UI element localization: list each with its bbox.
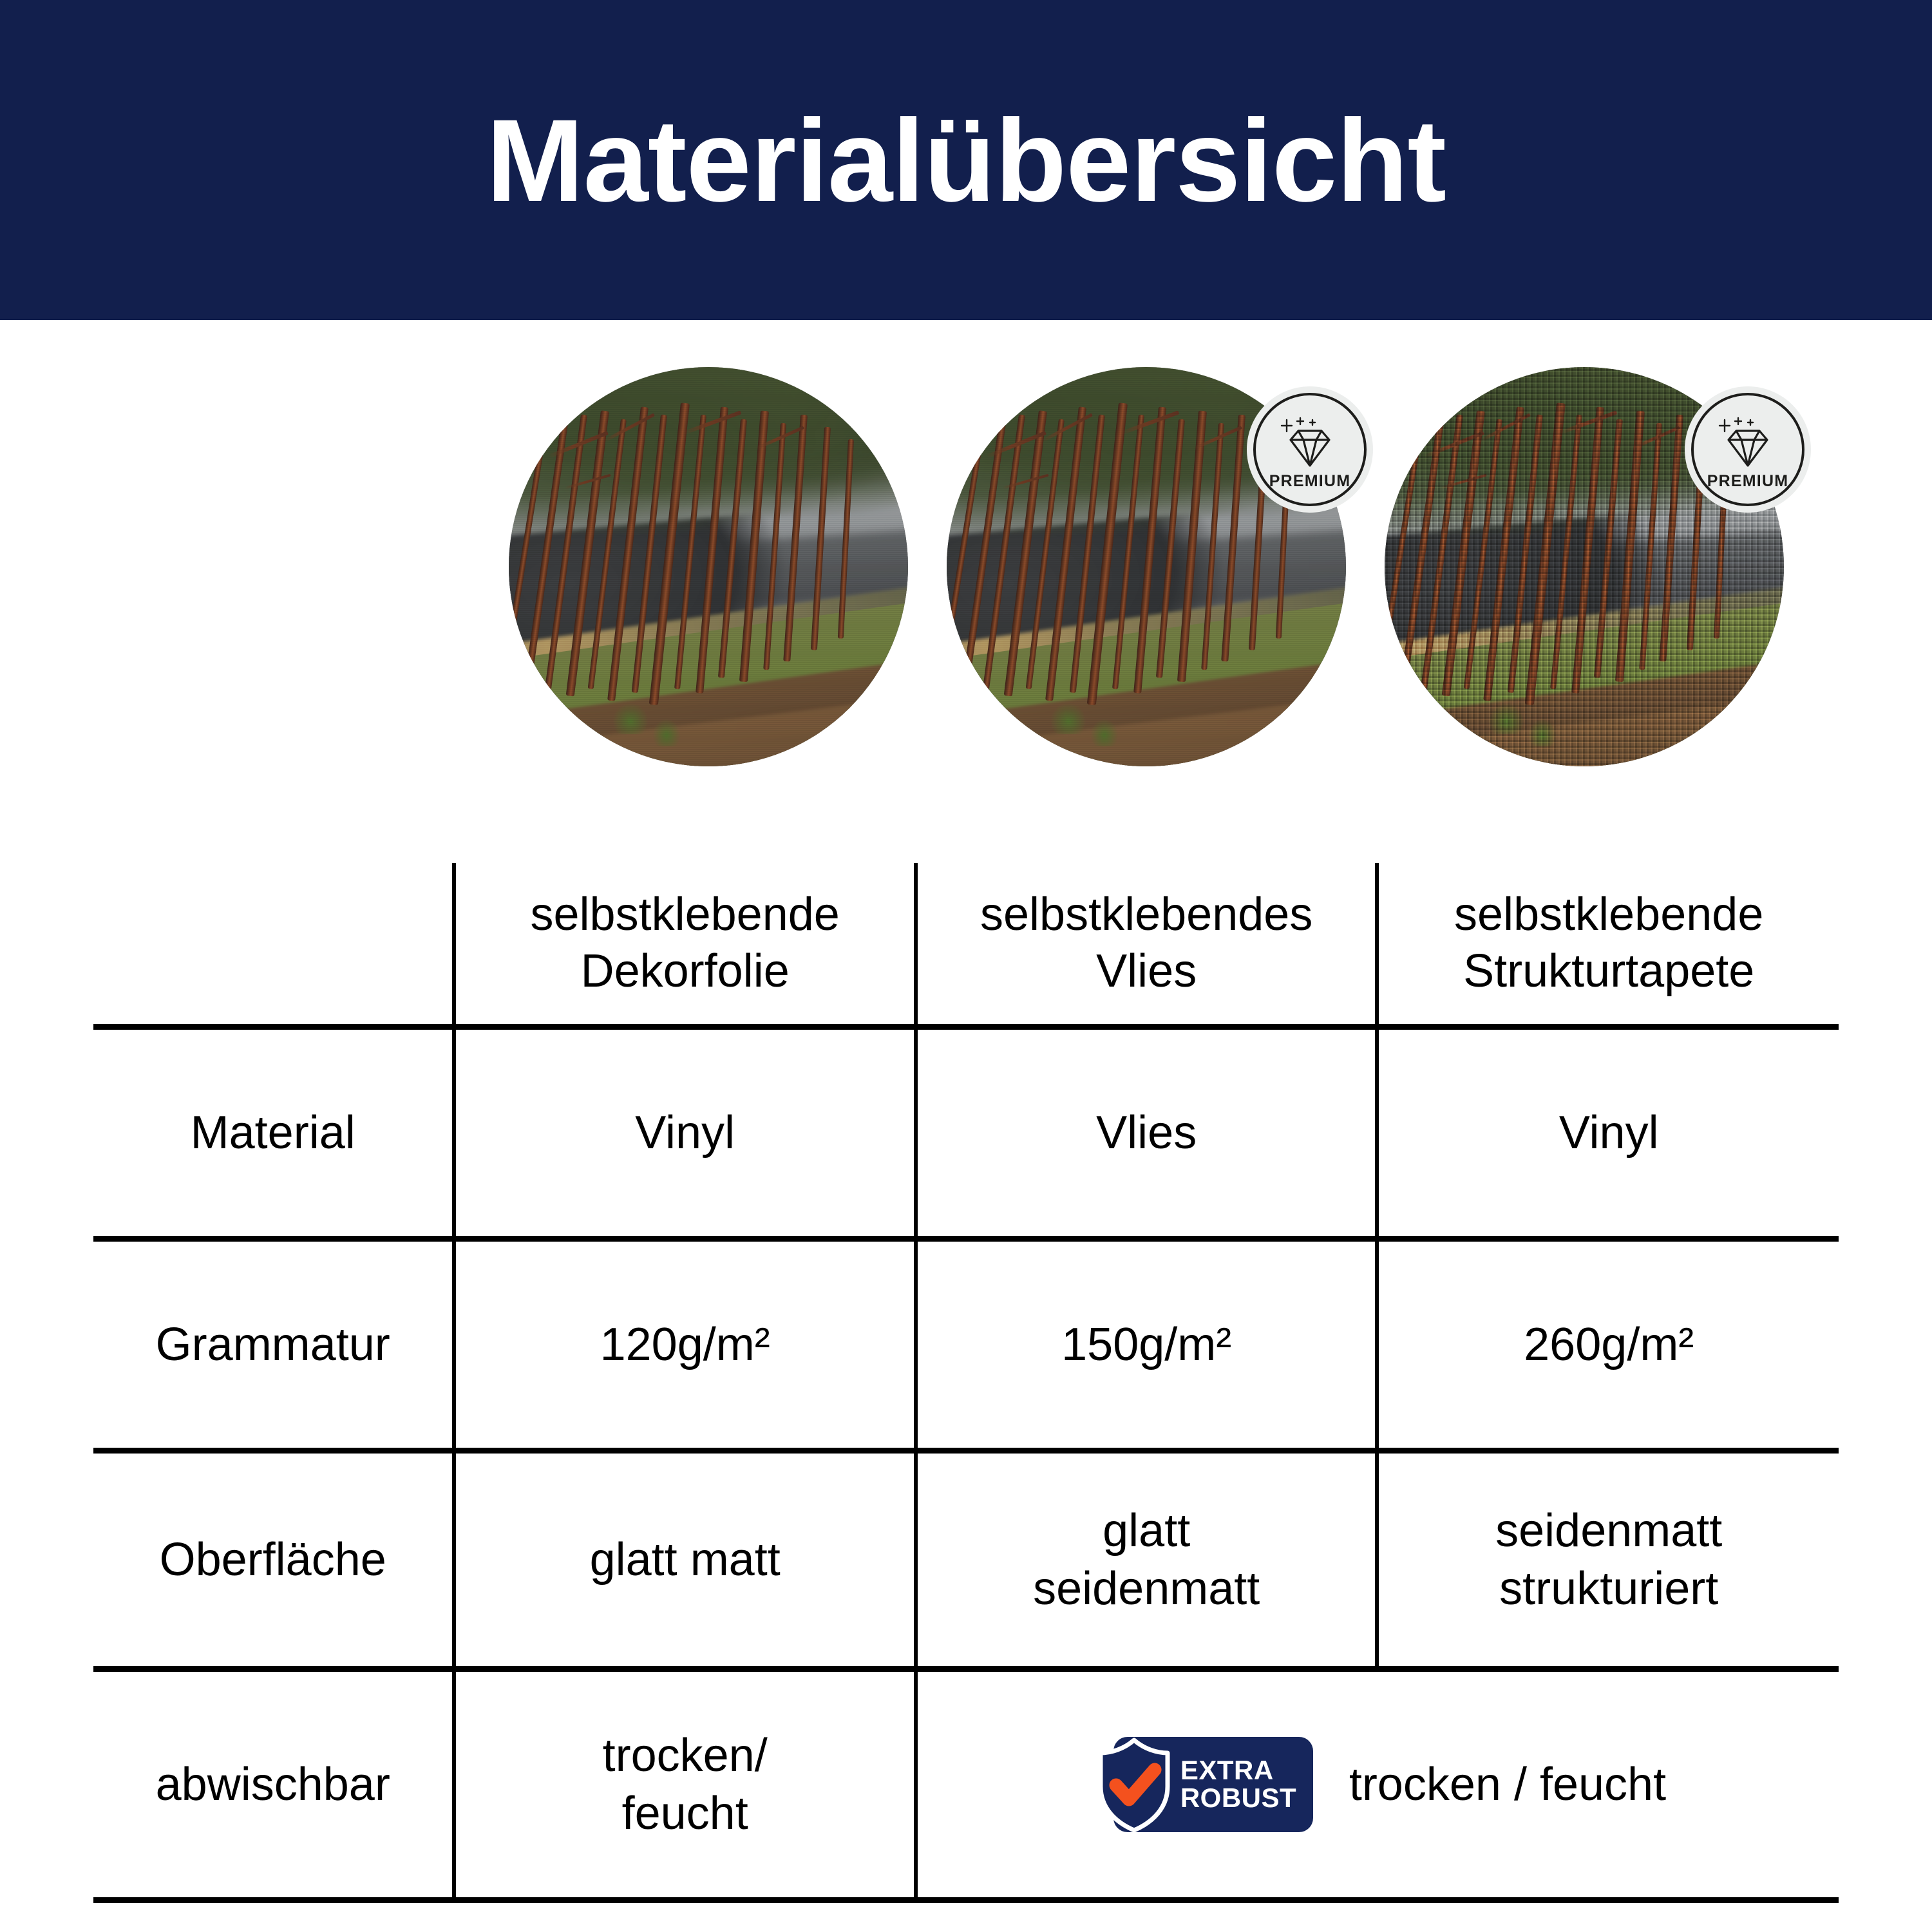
header-line-1: selbstklebende <box>530 889 839 940</box>
cell-oberflaeche-dekorfolie: glatt matt <box>454 1451 916 1669</box>
header-cell-vlies: selbstklebendes Vlies <box>916 863 1378 1027</box>
robust-line-1: EXTRA <box>1180 1757 1296 1785</box>
cell-abwischbar-vlies-strukturtapete: EXTRA ROBUST trocken / feucht <box>916 1669 1839 1900</box>
value-line-2: strukturiert <box>1499 1563 1718 1615</box>
premium-badge-label: PREMIUM <box>1707 472 1788 491</box>
cell-material-dekorfolie: Vinyl <box>454 1027 916 1239</box>
cell-material-vlies: Vlies <box>916 1027 1378 1239</box>
diamond-icon <box>1717 414 1779 469</box>
row-label-oberflaeche: Oberfläche <box>93 1451 454 1669</box>
header-line-2: Vlies <box>1096 945 1197 997</box>
premium-badge-label: PREMIUM <box>1269 472 1350 491</box>
header-cell-empty <box>93 863 454 1027</box>
value-line-1: glatt <box>1103 1505 1190 1557</box>
header-line-1: selbstklebendes <box>980 889 1312 940</box>
row-label-material: Material <box>93 1027 454 1239</box>
diamond-icon <box>1279 414 1341 469</box>
cell-grammatur-strukturtapete: 260g/m² <box>1377 1239 1839 1451</box>
cell-grammatur-dekorfolie: 120g/m² <box>454 1239 916 1451</box>
cell-oberflaeche-vlies: glatt seidenmatt <box>916 1451 1378 1669</box>
header-banner: Materialübersicht <box>0 0 1932 320</box>
header-line-2: Dekorfolie <box>581 945 790 997</box>
table-row-grammatur: Grammatur 120g/m² 150g/m² 260g/m² <box>93 1239 1839 1451</box>
row-label-abwischbar: abwischbar <box>93 1669 454 1900</box>
cell-oberflaeche-strukturtapete: seidenmatt strukturiert <box>1377 1451 1839 1669</box>
value-abwischbar-merged: trocken / feucht <box>1349 1756 1666 1814</box>
table-row-oberflaeche: Oberfläche glatt matt glatt seidenmatt s… <box>93 1451 1839 1669</box>
robust-line-2: ROBUST <box>1180 1785 1296 1812</box>
header-line-2: Strukturtapete <box>1463 945 1754 997</box>
header-cell-dekorfolie: selbstklebende Dekorfolie <box>454 863 916 1027</box>
row-label-grammatur: Grammatur <box>93 1239 454 1451</box>
table-row-material: Material Vinyl Vlies Vinyl <box>93 1027 1839 1239</box>
cell-material-strukturtapete: Vinyl <box>1377 1027 1839 1239</box>
value-line-1: seidenmatt <box>1495 1505 1722 1557</box>
extra-robust-label: EXTRA ROBUST <box>1180 1757 1296 1812</box>
value-line-2: feucht <box>622 1788 748 1839</box>
page-title: Materialübersicht <box>486 102 1446 219</box>
cell-grammatur-vlies: 150g/m² <box>916 1239 1378 1451</box>
value-line-1: trocken/ <box>603 1730 768 1781</box>
value-line-1: glatt matt <box>590 1534 781 1586</box>
extra-robust-badge: EXTRA ROBUST <box>1113 1737 1313 1832</box>
shield-check-icon <box>1093 1736 1175 1833</box>
swatch-dekorfolie[interactable] <box>509 367 908 766</box>
premium-badge-vlies: PREMIUM <box>1247 386 1373 513</box>
header-cell-strukturtapete: selbstklebende Strukturtapete <box>1377 863 1839 1027</box>
swatch-image-1 <box>509 367 908 766</box>
header-line-1: selbstklebende <box>1454 889 1763 940</box>
value-line-2: seidenmatt <box>1033 1563 1260 1615</box>
cell-abwischbar-dekorfolie: trocken/ feucht <box>454 1669 916 1900</box>
material-comparison-table: selbstklebende Dekorfolie selbstklebende… <box>93 863 1839 1903</box>
swatch-vlies[interactable]: PREMIUM <box>947 367 1346 766</box>
table-row-abwischbar: abwischbar trocken/ feucht <box>93 1669 1839 1900</box>
table-header-row: selbstklebende Dekorfolie selbstklebende… <box>93 863 1839 1027</box>
premium-badge-strukturtapete: PREMIUM <box>1685 386 1811 513</box>
swatch-strukturtapete[interactable]: PREMIUM <box>1385 367 1784 766</box>
